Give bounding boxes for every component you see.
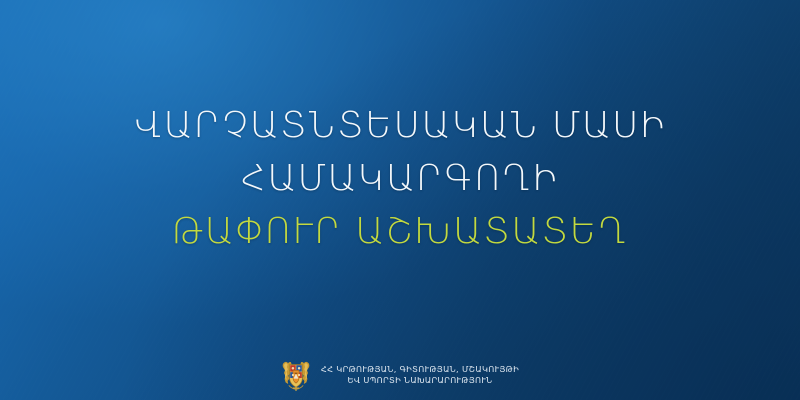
footer-branding: ՀՀ ԿՐԹՈՒԹՅԱՆ, ԳԻՏՈՒԹՅԱՆ, ՄՇԱԿՈՒՅԹԻ ԵՎ ՍՊ… xyxy=(0,358,800,392)
headline-line-2: ՀԱՄԱԿԱՐԳՈՂԻ xyxy=(0,161,800,197)
ministry-name-line-2: ԵՎ ՍՊՈՐՏԻ ՆԱԽԱՐԱՐՈՒԹՅՈՒՆ xyxy=(348,375,493,386)
announcement-banner: ՎԱՐՉԱՏՆՏԵՍԱԿԱՆ ՄԱՍԻ ՀԱՄԱԿԱՐԳՈՂԻ ԹԱՓՈՒՐ Ա… xyxy=(0,0,800,400)
ministry-name-line-1: ՀՀ ԿՐԹՈՒԹՅԱՆ, ԳԻՏՈՒԹՅԱՆ, ՄՇԱԿՈՒՅԹԻ xyxy=(321,364,519,375)
headline-block: ՎԱՐՉԱՏՆՏԵՍԱԿԱՆ ՄԱՍԻ ՀԱՄԱԿԱՐԳՈՂԻ ԹԱՓՈՒՐ Ա… xyxy=(0,108,800,250)
headline-line-1: ՎԱՐՉԱՏՆՏԵՍԱԿԱՆ ՄԱՍԻ xyxy=(0,108,800,144)
ministry-name: ՀՀ ԿՐԹՈՒԹՅԱՆ, ԳԻՏՈՒԹՅԱՆ, ՄՇԱԿՈՒՅԹԻ ԵՎ ՍՊ… xyxy=(321,364,519,386)
armenian-coat-of-arms-icon xyxy=(281,358,311,392)
banner-content: ՎԱՐՉԱՏՆՏԵՍԱԿԱՆ ՄԱՍԻ ՀԱՄԱԿԱՐԳՈՂԻ ԹԱՓՈՒՐ Ա… xyxy=(0,0,800,400)
headline-line-3-highlight: ԹԱՓՈՒՐ ԱՇԽԱՏԱՏԵՂ xyxy=(0,214,800,250)
